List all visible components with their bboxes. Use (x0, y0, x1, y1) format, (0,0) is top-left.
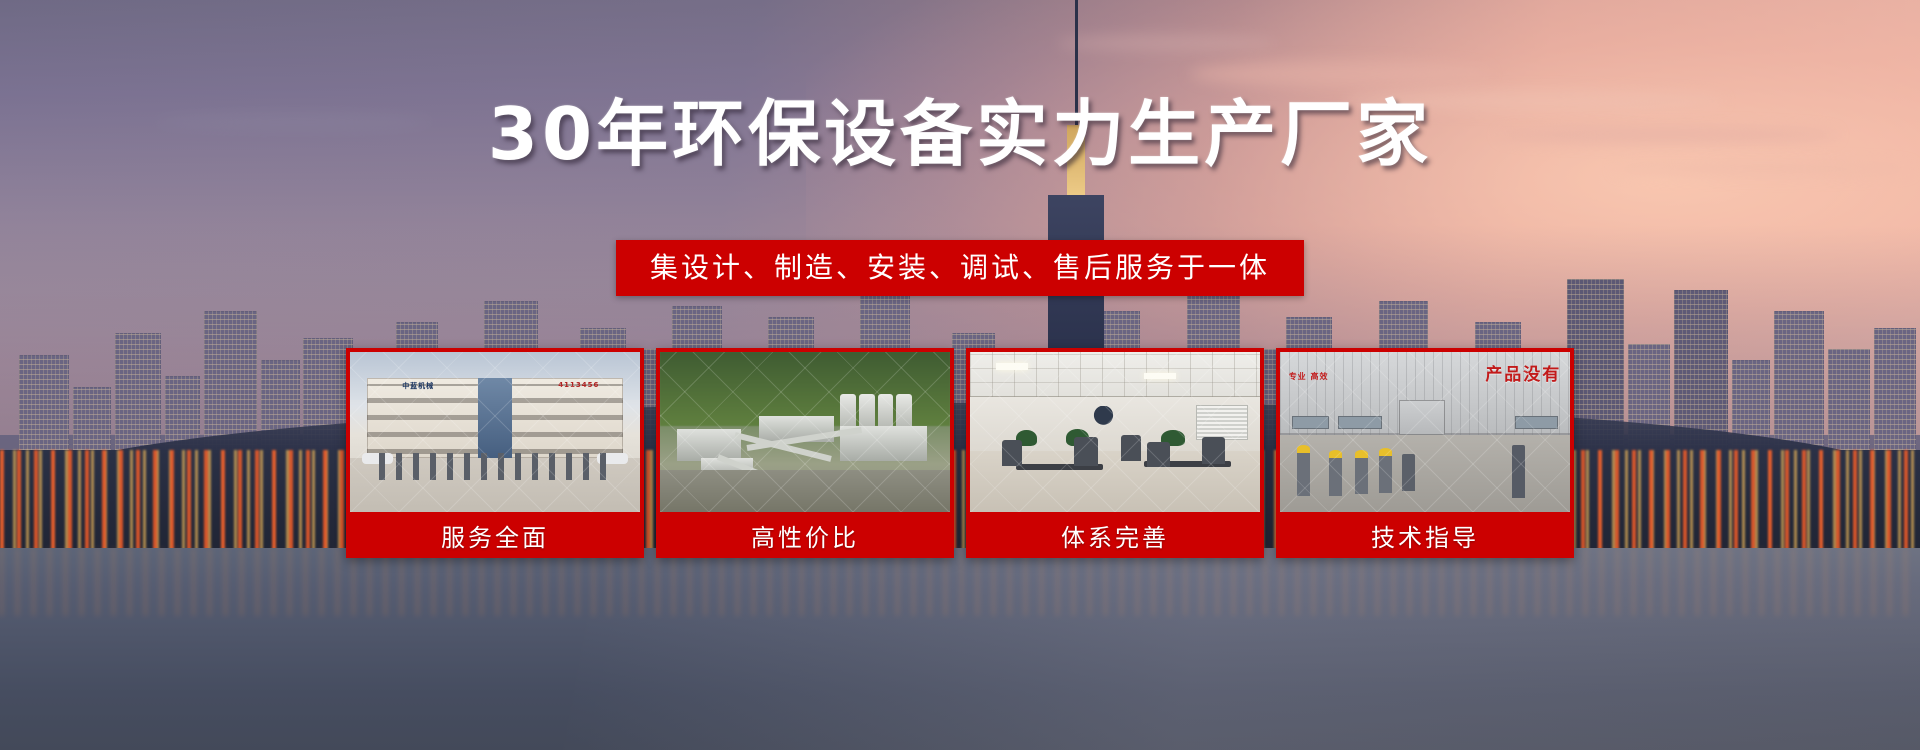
feature-card[interactable]: 产品没有 专业 高效 (1276, 348, 1574, 558)
card-caption: 技术指导 (1280, 512, 1570, 558)
card-caption: 体系完善 (970, 512, 1260, 558)
building-sign-text: 中蓝机械 (402, 381, 434, 391)
factory-large-sign-text: 产品没有 (1485, 360, 1561, 385)
building-phone-text: 4113456 (558, 381, 599, 389)
factory-small-sign-text: 专业 高效 (1289, 371, 1329, 382)
company-building-photo: 中蓝机械 4113456 (350, 352, 640, 512)
page-title: 30年环保设备实力生产厂家 (0, 98, 1920, 170)
subtitle-banner: 集设计、制造、安装、调试、售后服务于一体 (616, 240, 1304, 296)
card-caption: 服务全面 (350, 512, 640, 558)
factory-workers-photo: 产品没有 专业 高效 (1280, 352, 1570, 512)
feature-card[interactable]: 中蓝机械 4113456 服务全面 (346, 348, 644, 558)
hero-banner: 30年环保设备实力生产厂家 集设计、制造、安装、调试、售后服务于一体 中蓝机械 … (0, 0, 1920, 750)
feature-card[interactable]: 体系完善 (966, 348, 1264, 558)
card-caption: 高性价比 (660, 512, 950, 558)
aerial-plant-photo (660, 352, 950, 512)
feature-card[interactable]: 高性价比 (656, 348, 954, 558)
feature-card-list: 中蓝机械 4113456 服务全面 (346, 348, 1574, 558)
office-interior-photo (970, 352, 1260, 512)
